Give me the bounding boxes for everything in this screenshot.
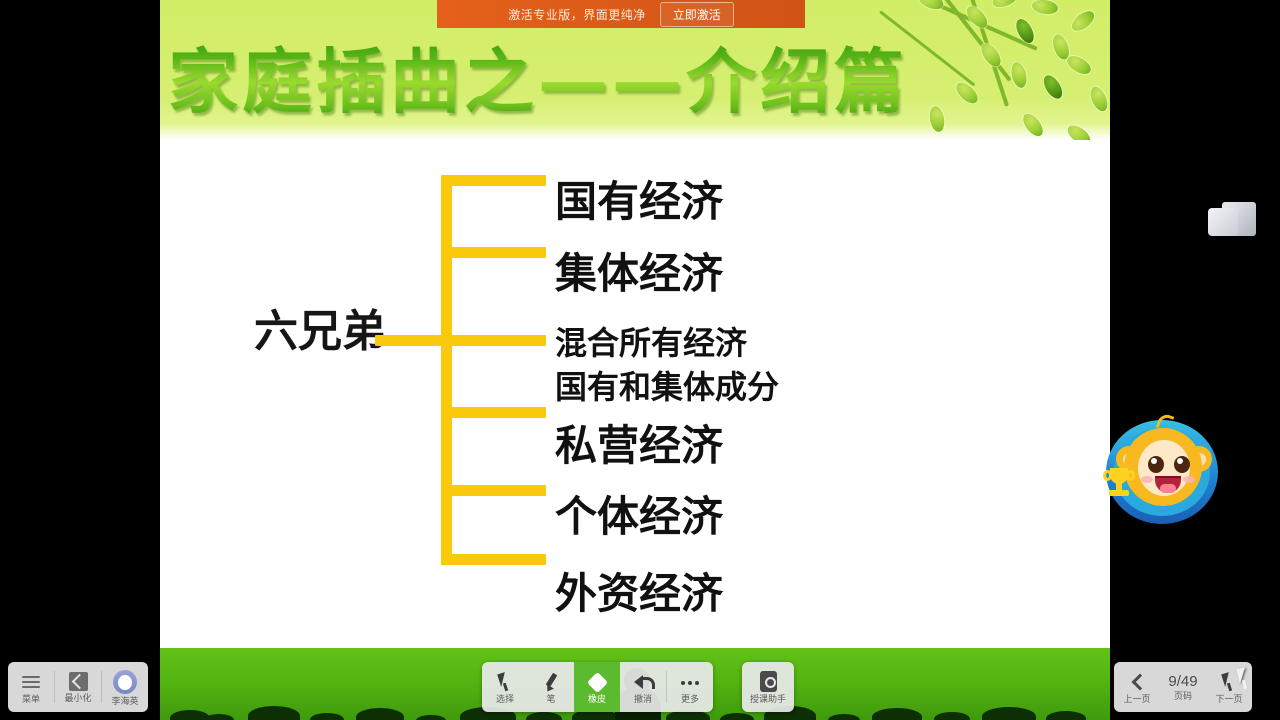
- page-number-value: 9/49: [1168, 674, 1197, 689]
- taskbar-assistant-panel: 授课助手: [742, 662, 794, 712]
- tool-eraser-label: 橡皮: [588, 695, 606, 704]
- teaching-assistant-label: 授课助手: [750, 695, 786, 704]
- assistant-icon: [760, 671, 777, 692]
- activate-now-button[interactable]: 立即激活: [660, 2, 734, 27]
- menu-icon: [21, 672, 41, 692]
- more-icon: [680, 672, 700, 692]
- diagram-node-4: 国有和集体成分: [555, 362, 779, 408]
- pen-icon: [541, 672, 561, 692]
- tool-more-label: 更多: [681, 695, 699, 704]
- diagram-branch-6: [441, 554, 546, 565]
- trophy-icon: [1104, 468, 1134, 500]
- slide-title: 家庭插曲之——介绍篇: [168, 26, 908, 127]
- teaching-assistant-button[interactable]: 授课助手: [742, 662, 794, 712]
- diagram-branch-3: [441, 335, 546, 346]
- taskbar-nav-panel: 上一页 9/49 页码 下一页: [1114, 662, 1252, 712]
- tool-pen-label: 笔: [546, 695, 555, 704]
- undo-icon: [633, 672, 653, 692]
- mouse-cursor: [1238, 668, 1254, 690]
- diagram-branch-1: [441, 175, 546, 186]
- folder-icon[interactable]: [1208, 200, 1256, 240]
- cursor-icon: [1219, 672, 1239, 692]
- chevron-left-icon: [1127, 672, 1147, 692]
- menu-label: 菜单: [22, 695, 40, 704]
- diagram-spine: [441, 175, 452, 565]
- next-page-label: 下一页: [1215, 695, 1242, 704]
- diagram-branch-5: [441, 485, 546, 496]
- tool-undo-label: 撤消: [634, 695, 652, 704]
- user-name-label: 李海英: [111, 697, 138, 706]
- tool-pen[interactable]: 笔: [528, 662, 574, 712]
- diagram-node-3: 混合所有经济: [555, 318, 747, 364]
- taskbar-tools-panel: 选择 笔 橡皮 撤消 更多: [482, 662, 713, 712]
- menu-button[interactable]: 菜单: [8, 662, 54, 712]
- user-account-button[interactable]: 李海英: [102, 662, 148, 712]
- diagram-node-2: 集体经济: [555, 240, 723, 301]
- minimize-label: 最小化: [64, 694, 91, 703]
- page-indicator[interactable]: 9/49 页码: [1160, 662, 1206, 712]
- diagram-branch-4: [441, 407, 546, 418]
- monkey-mascot-icon[interactable]: [1098, 408, 1226, 536]
- diagram-root-label: 六兄弟: [210, 295, 430, 359]
- avatar-icon: [113, 670, 137, 694]
- tool-eraser[interactable]: 橡皮: [574, 662, 620, 712]
- minimize-icon: [69, 672, 88, 691]
- diagram-node-7: 外资经济: [555, 560, 723, 621]
- diagram-branch-2: [441, 247, 546, 258]
- activation-message: 激活专业版，界面更纯净: [508, 6, 646, 23]
- tool-select[interactable]: 选择: [482, 662, 528, 712]
- eraser-icon: [587, 672, 607, 692]
- diagram-node-6: 个体经济: [555, 483, 723, 544]
- diagram-node-5: 私营经济: [555, 412, 723, 473]
- cursor-icon: [495, 672, 515, 692]
- activation-banner[interactable]: 激活专业版，界面更纯净 立即激活: [437, 0, 805, 28]
- tool-undo[interactable]: 撤消: [620, 662, 666, 712]
- tool-more[interactable]: 更多: [667, 662, 713, 712]
- taskbar-left-panel: 菜单 最小化 李海英: [8, 662, 148, 712]
- diagram-root-connector: [375, 335, 447, 346]
- prev-page-label: 上一页: [1123, 695, 1150, 704]
- diagram-node-1: 国有经济: [555, 168, 723, 229]
- tool-select-label: 选择: [496, 695, 514, 704]
- presentation-slide[interactable]: 家庭插曲之——介绍篇 六兄弟 国有经济 集体经济 混合所有经济 国有和集体成分 …: [160, 0, 1110, 648]
- prev-page-button[interactable]: 上一页: [1114, 662, 1160, 712]
- page-number-label: 页码: [1174, 692, 1192, 701]
- minimize-button[interactable]: 最小化: [55, 662, 101, 712]
- screen-root: 家庭插曲之——介绍篇 六兄弟 国有经济 集体经济 混合所有经济 国有和集体成分 …: [0, 0, 1280, 720]
- mindmap-diagram: 六兄弟 国有经济 集体经济 混合所有经济 国有和集体成分 私营经济 个体经济 外…: [160, 140, 1110, 648]
